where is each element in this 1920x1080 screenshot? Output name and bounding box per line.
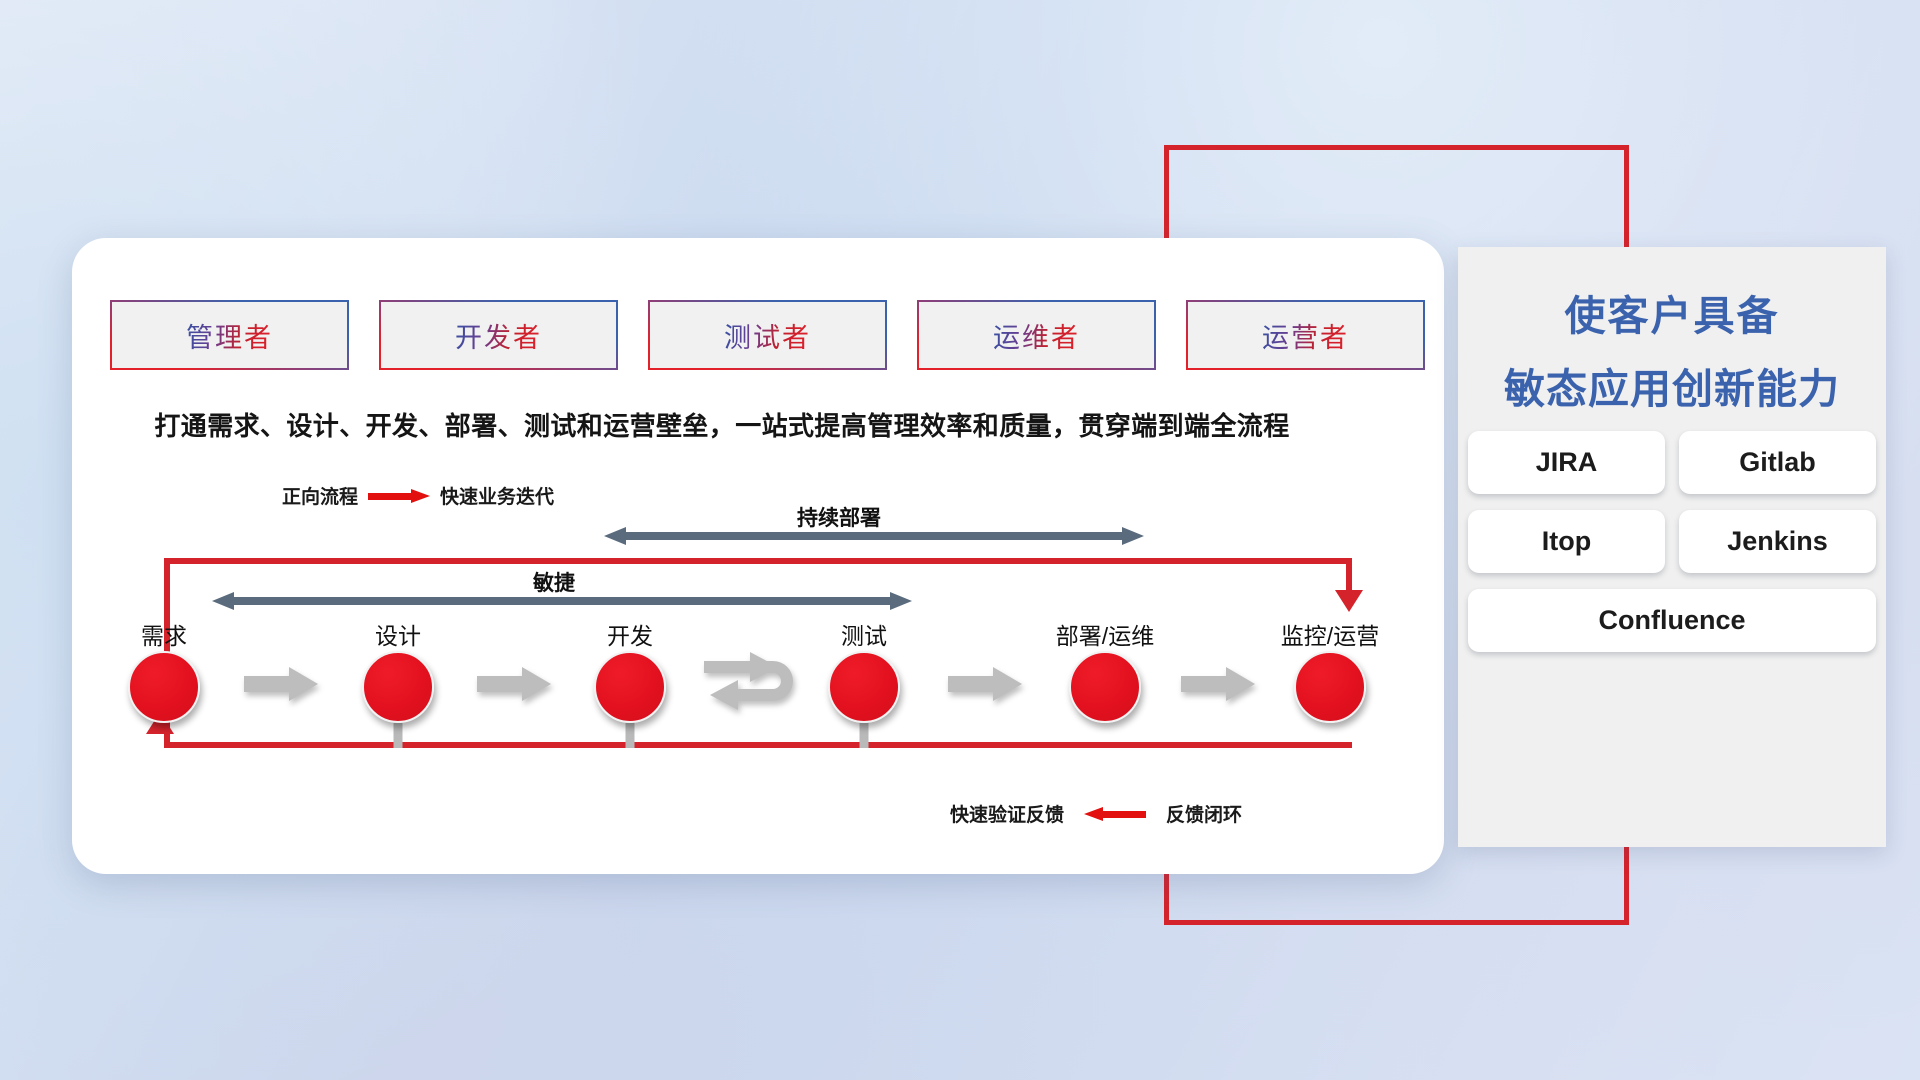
separator-arrow-4-icon [1181,667,1255,701]
cycle-arrow-down-icon [1335,590,1363,612]
separator-arrow-2-icon [477,667,551,701]
double-arrow-agile [212,592,912,610]
stage-dot-requirement[interactable] [128,651,200,723]
stage-dot-monitor-operations[interactable] [1294,651,1366,723]
stage-label-test: 测试 [841,617,887,651]
role-label: 测试者 [724,316,811,355]
stage-dot-test[interactable] [828,651,900,723]
stage-dot-design[interactable] [362,651,434,723]
stage-label-monitor-operations: 监控/运营 [1281,617,1379,651]
tool-chip-list: JIRA Gitlab Itop Jenkins Confluence [1468,431,1876,652]
cycle-path-bottom [164,742,1352,748]
stage-label-design: 设计 [375,617,421,651]
separator-arrow-3-icon [948,667,1022,701]
role-label: 开发者 [455,316,542,355]
cycle-path-top [164,558,1352,564]
slide-canvas: 管理者 开发者 测试者 运维者 运营者 打通需求、设计、开发、部署、测试和运营壁… [0,0,1920,1080]
legend-forward-left-label: 正向流程 [282,482,358,509]
role-box-manager[interactable]: 管理者 [110,300,349,370]
headline-text: 打通需求、设计、开发、部署、测试和运营壁垒，一站式提高管理效率和质量，贯穿端到端… [0,406,1444,443]
stage-dot-development[interactable] [594,651,666,723]
separator-arrow-1-icon [244,667,318,701]
role-box-developer[interactable]: 开发者 [379,300,618,370]
capability-panel: 使客户具备 敏态应用创新能力 JIRA Gitlab Itop Jenkins … [1458,247,1886,847]
legend-feedback-right-label: 反馈闭环 [1166,800,1242,827]
role-box-tester[interactable]: 测试者 [648,300,887,370]
legend-feedback-loop: 快速验证反馈 反馈闭环 [950,800,1242,827]
stage-label-deploy-ops: 部署/运维 [1056,617,1154,651]
role-box-list: 管理者 开发者 测试者 运维者 运营者 [110,300,1425,370]
role-box-operations[interactable]: 运营者 [1186,300,1425,370]
stage-dot-deploy-ops[interactable] [1069,651,1141,723]
tool-chip-jira[interactable]: JIRA [1468,431,1665,494]
connector-frame-bottom [1164,920,1629,925]
legend-forward-flow: 正向流程 快速业务迭代 [282,482,554,509]
role-label: 管理者 [186,316,273,355]
tool-chip-itop[interactable]: Itop [1468,510,1665,573]
panel-title-line-2: 敏态应用创新能力 [1458,355,1886,415]
role-label: 运维者 [993,316,1080,355]
tool-chip-gitlab[interactable]: Gitlab [1679,431,1876,494]
double-arrow-continuous-deployment [604,527,1144,545]
tool-chip-jenkins[interactable]: Jenkins [1679,510,1876,573]
iteration-loop-arrow-icon [700,648,810,722]
role-label: 运营者 [1262,316,1349,355]
connector-frame-top [1164,145,1629,150]
panel-title-line-1: 使客户具备 [1458,282,1886,342]
arrow-right-red-icon [368,489,430,502]
tool-chip-confluence[interactable]: Confluence [1468,589,1876,652]
stage-label-requirement: 需求 [141,617,187,651]
stage-label-development: 开发 [607,617,653,651]
arrow-left-red-icon [1084,807,1146,820]
legend-feedback-left-label: 快速验证反馈 [950,800,1064,827]
role-box-ops[interactable]: 运维者 [917,300,1156,370]
legend-forward-right-label: 快速业务迭代 [440,482,554,509]
